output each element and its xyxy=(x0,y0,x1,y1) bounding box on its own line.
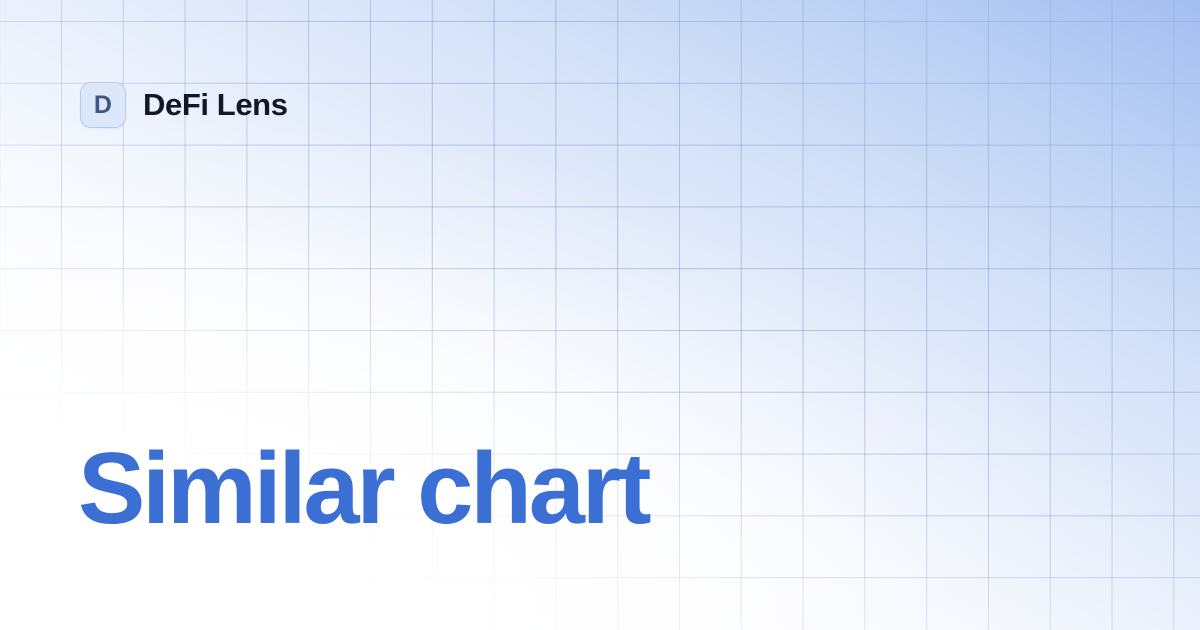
card-content: D DeFi Lens Similar chart xyxy=(0,0,1200,630)
page-title: Similar chart xyxy=(78,438,648,541)
brand-lockup: D DeFi Lens xyxy=(80,82,288,128)
brand-badge-letter: D xyxy=(94,93,112,118)
defi-lens-monogram-icon: D xyxy=(80,82,126,128)
brand-name: DeFi Lens xyxy=(143,87,288,123)
og-card: D DeFi Lens Similar chart xyxy=(0,0,1200,630)
